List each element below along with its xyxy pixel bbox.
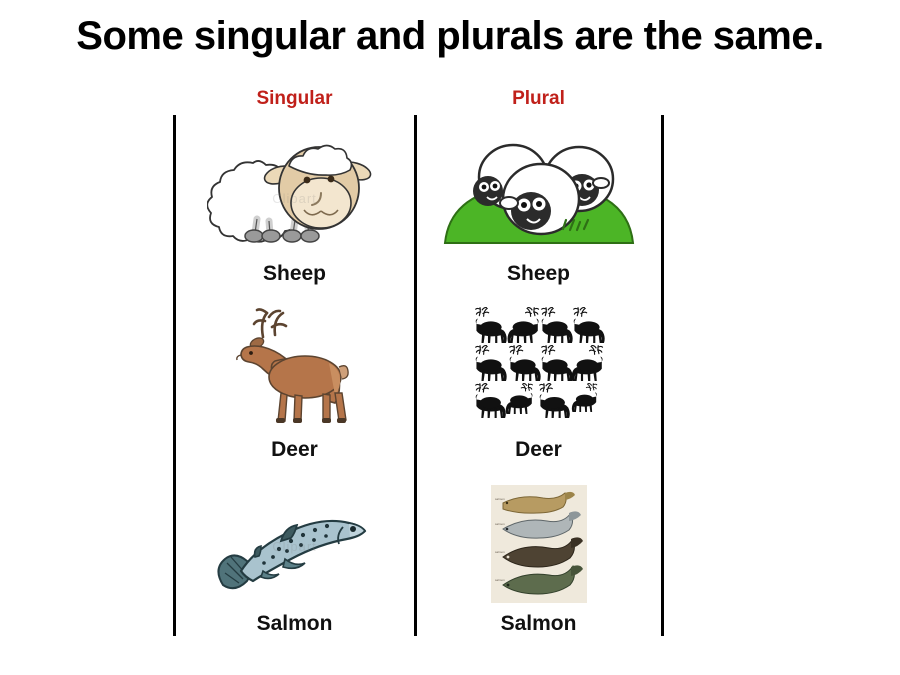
page-title: Some singular and plurals are the same. <box>0 14 900 59</box>
slide-canvas: Some singular and plurals are the same. … <box>0 0 900 675</box>
brown-stag-icon <box>225 301 365 434</box>
svg-text:salmon: salmon <box>495 497 505 501</box>
cell-sheep-plural: Sheep <box>415 126 662 286</box>
label-sheep-plural: Sheep <box>507 262 570 286</box>
deer-silhouette-grid-icon <box>473 305 605 434</box>
svg-text:salmon: salmon <box>495 578 505 582</box>
salmon-species-chart-icon: salmon salmon salmon <box>491 485 587 608</box>
label-sheep-singular: Sheep <box>263 262 326 286</box>
svg-text:salmon: salmon <box>495 550 505 554</box>
cell-deer-plural: Deer <box>415 296 662 462</box>
column-header-singular: Singular <box>174 88 415 110</box>
cartoon-sheep-icon: Clipart <box>207 133 382 258</box>
label-deer-plural: Deer <box>515 438 562 462</box>
cell-salmon-singular: Clipart Salmon <box>174 480 415 636</box>
label-salmon-plural: Salmon <box>501 612 577 636</box>
three-sheep-on-hill-icon <box>439 133 639 258</box>
cell-salmon-plural: salmon salmon salmon <box>415 476 662 636</box>
cell-sheep-singular: Clipart Sheep <box>174 126 415 286</box>
blue-salmon-icon: Clipart <box>207 493 382 608</box>
cell-deer-singular: Deer <box>174 296 415 462</box>
label-deer-singular: Deer <box>271 438 318 462</box>
label-salmon-singular: Salmon <box>257 612 333 636</box>
column-header-plural: Plural <box>415 88 662 110</box>
svg-text:salmon: salmon <box>495 522 505 526</box>
